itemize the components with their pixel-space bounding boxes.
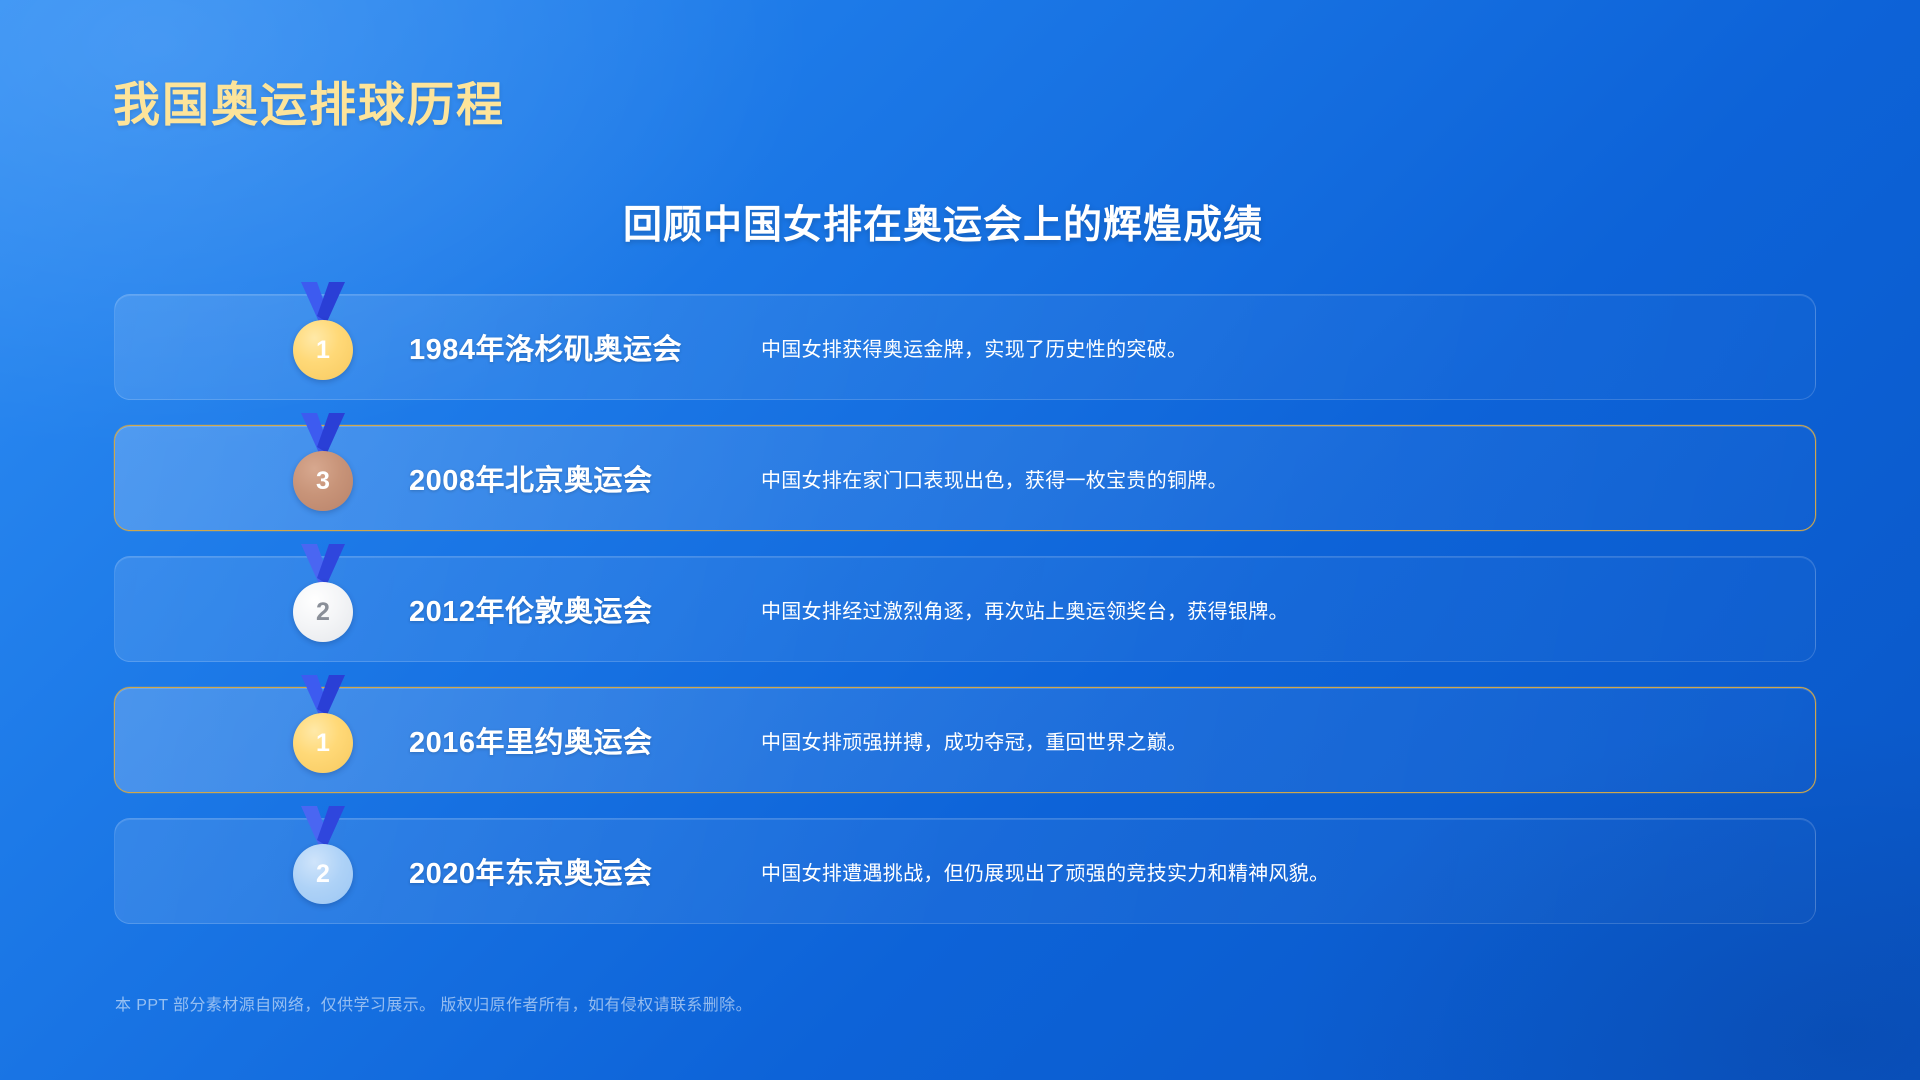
timeline-row[interactable]: 32008年北京奥运会中国女排在家门口表现出色，获得一枚宝贵的铜牌。 bbox=[114, 425, 1816, 531]
timeline-row[interactable]: 22020年东京奥运会中国女排遭遇挑战，但仍展现出了顽强的竞技实力和精神风貌。 bbox=[114, 818, 1816, 924]
timeline-row-title: 2008年北京奥运会 bbox=[409, 457, 709, 499]
medal-badge: 1 bbox=[275, 687, 371, 793]
timeline-list: 11984年洛杉矶奥运会中国女排获得奥运金牌，实现了历史性的突破。32008年北… bbox=[114, 294, 1816, 949]
timeline-row-title: 1984年洛杉矶奥运会 bbox=[409, 326, 709, 368]
footer-disclaimer: 本 PPT 部分素材源自网络，仅供学习展示。 版权归原作者所有，如有侵权请联系删… bbox=[115, 991, 752, 1015]
timeline-row[interactable]: 11984年洛杉矶奥运会中国女排获得奥运金牌，实现了历史性的突破。 bbox=[114, 294, 1816, 400]
medal-badge: 2 bbox=[275, 818, 371, 924]
timeline-row[interactable]: 22012年伦敦奥运会中国女排经过激烈角逐，再次站上奥运领奖台，获得银牌。 bbox=[114, 556, 1816, 662]
timeline-row-title: 2020年东京奥运会 bbox=[409, 850, 709, 892]
medal-badge: 3 bbox=[275, 425, 371, 531]
bronze-medal-icon: 3 bbox=[293, 451, 353, 511]
timeline-row-description: 中国女排在家门口表现出色，获得一枚宝贵的铜牌。 bbox=[761, 464, 1815, 493]
silver-medal-icon: 2 bbox=[293, 844, 353, 904]
page-subtitle: 回顾中国女排在奥运会上的辉煌成绩 bbox=[0, 194, 1920, 250]
timeline-row[interactable]: 12016年里约奥运会中国女排顽强拼搏，成功夺冠，重回世界之巅。 bbox=[114, 687, 1816, 793]
timeline-row-title: 2016年里约奥运会 bbox=[409, 719, 709, 761]
timeline-row-description: 中国女排顽强拼搏，成功夺冠，重回世界之巅。 bbox=[761, 726, 1815, 755]
timeline-row-description: 中国女排遭遇挑战，但仍展现出了顽强的竞技实力和精神风貌。 bbox=[761, 857, 1815, 886]
timeline-row-title: 2012年伦敦奥运会 bbox=[409, 588, 709, 630]
timeline-row-description: 中国女排获得奥运金牌，实现了历史性的突破。 bbox=[761, 333, 1815, 362]
gold-medal-icon: 1 bbox=[293, 320, 353, 380]
silver-medal-icon: 2 bbox=[293, 582, 353, 642]
page-title: 我国奥运排球历程 bbox=[113, 66, 505, 135]
slide: 我国奥运排球历程 回顾中国女排在奥运会上的辉煌成绩 11984年洛杉矶奥运会中国… bbox=[0, 0, 1920, 1080]
timeline-row-description: 中国女排经过激烈角逐，再次站上奥运领奖台，获得银牌。 bbox=[761, 595, 1815, 624]
medal-badge: 1 bbox=[275, 294, 371, 400]
medal-badge: 2 bbox=[275, 556, 371, 662]
gold-medal-icon: 1 bbox=[293, 713, 353, 773]
page-subtitle-text: 回顾中国女排在奥运会上的辉煌成绩 bbox=[623, 194, 1263, 250]
